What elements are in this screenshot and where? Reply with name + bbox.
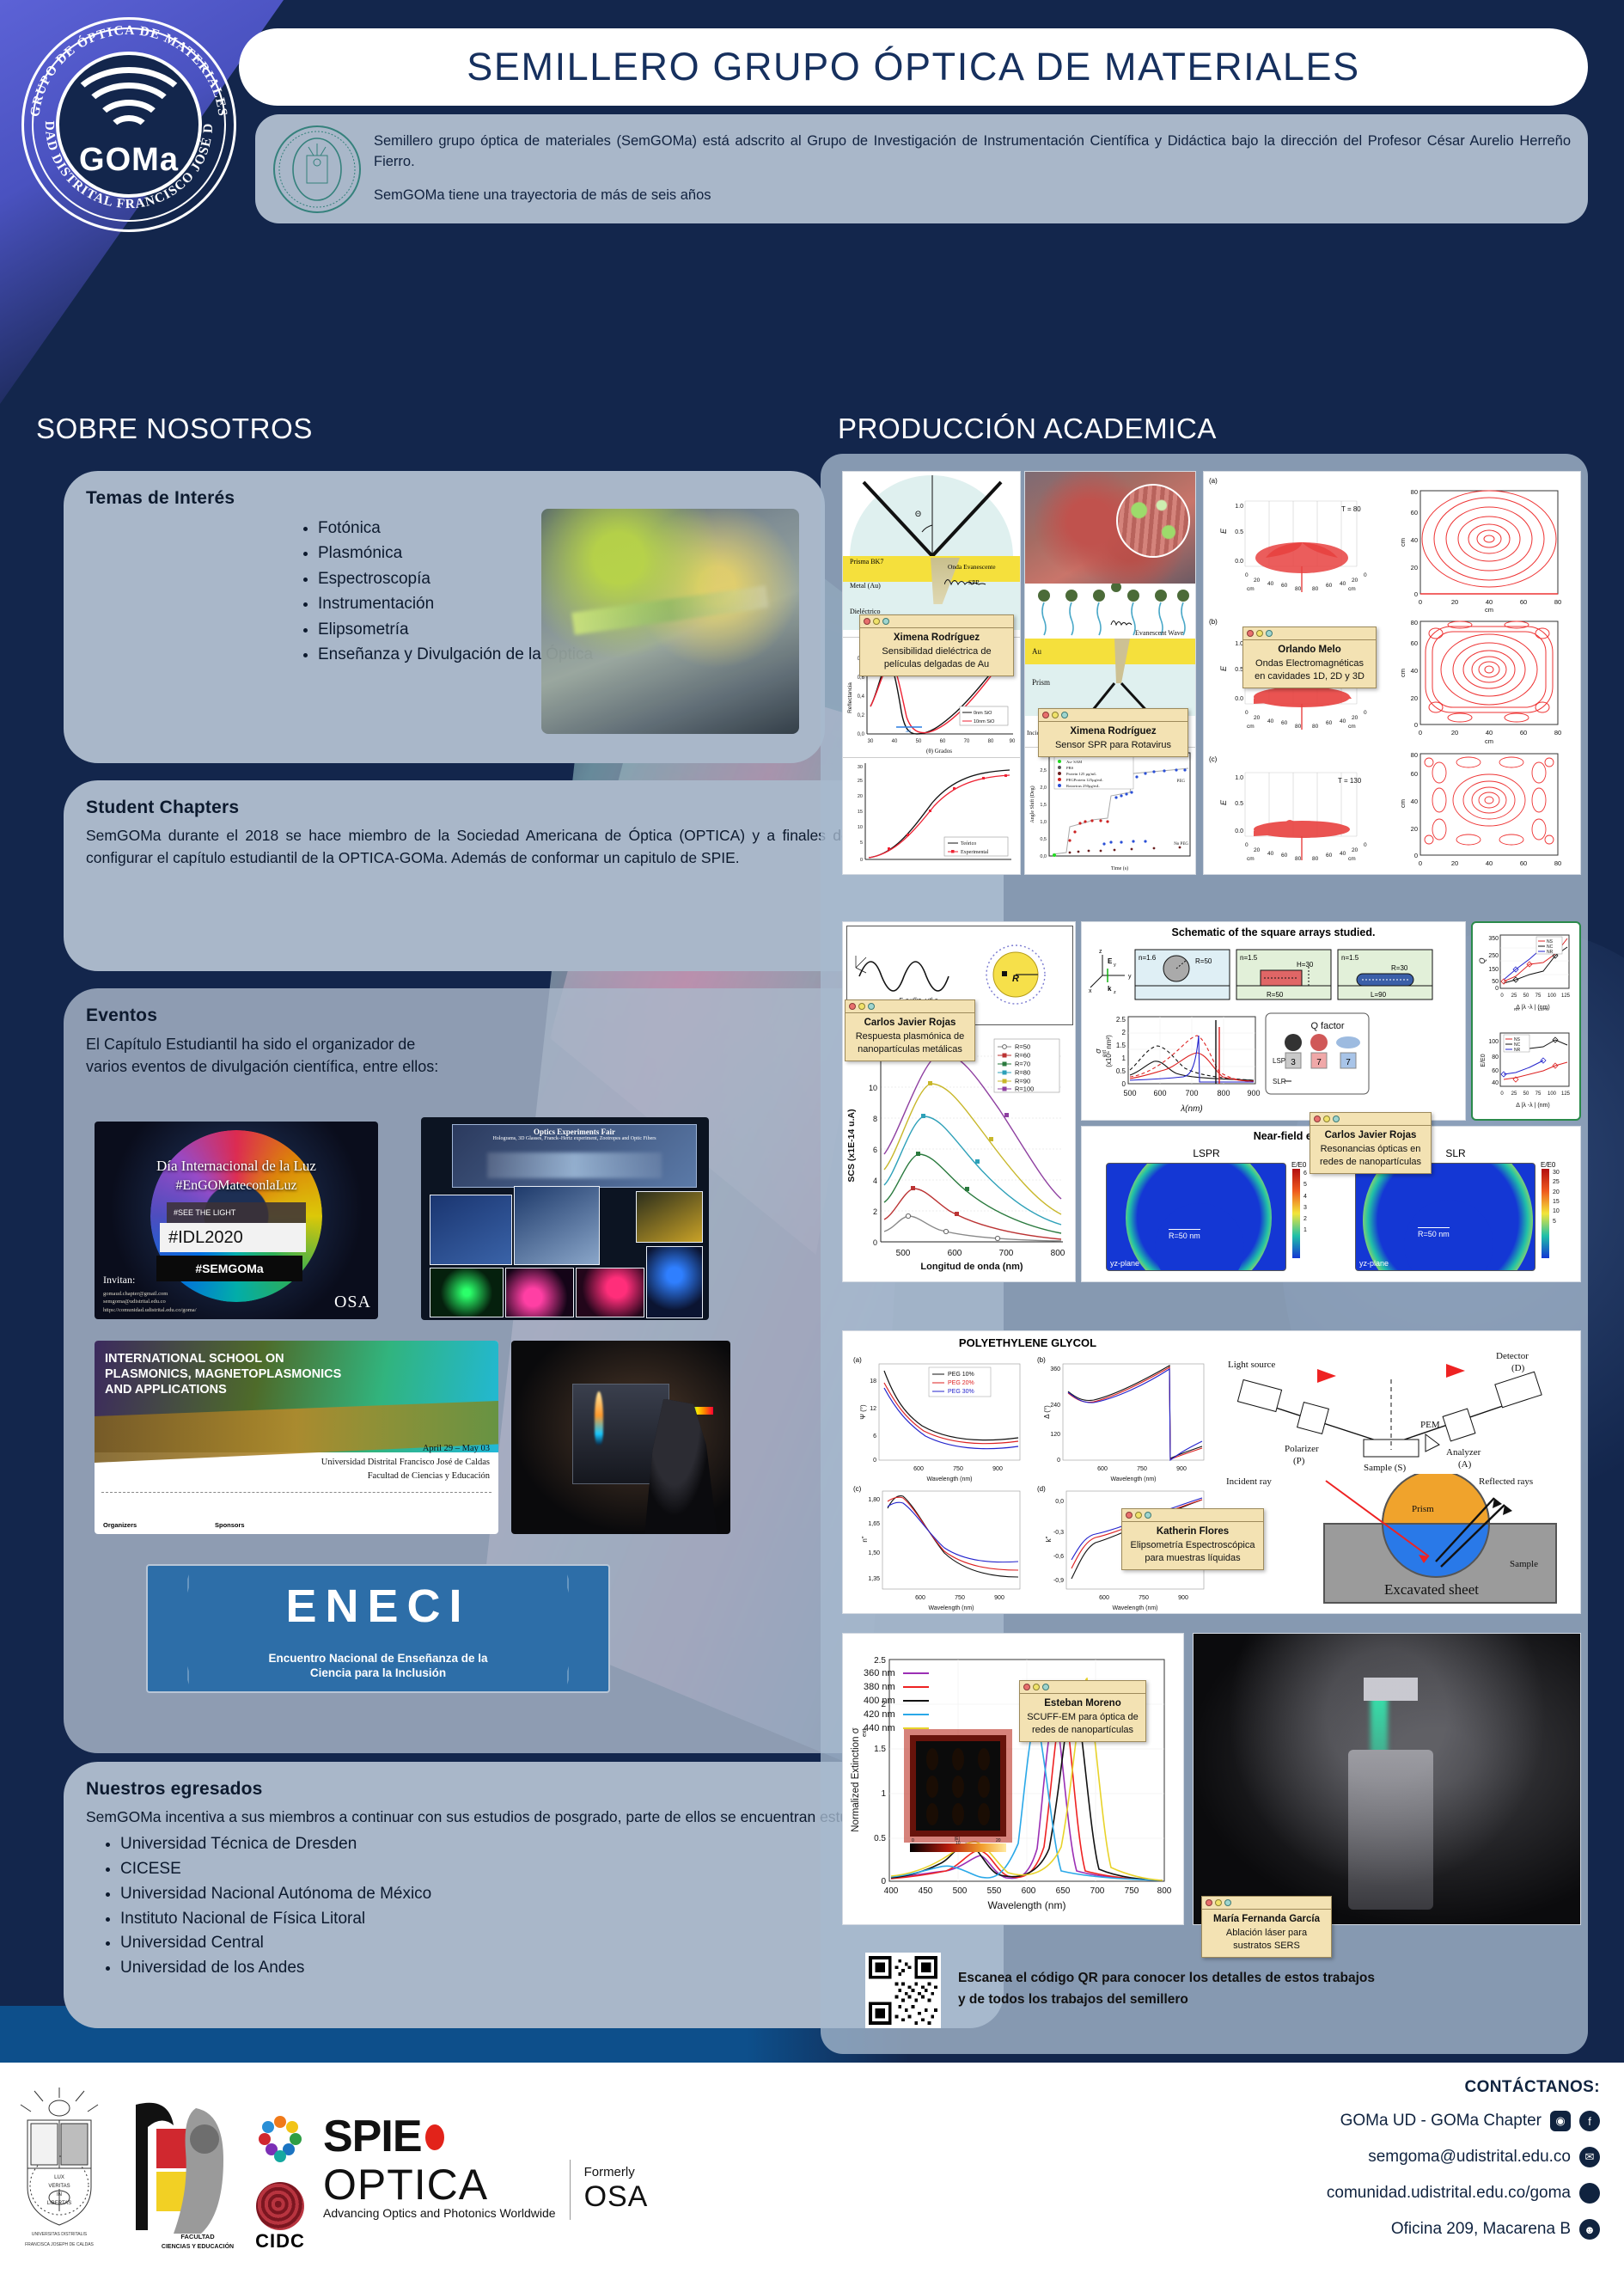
note-body: Esteban Moreno SCUFF-EM para óptica de r… — [1020, 1694, 1145, 1741]
svg-text:1.5: 1.5 — [874, 1745, 886, 1754]
svg-text:0: 0 — [1245, 842, 1249, 848]
svg-text:Excavated sheet: Excavated sheet — [1384, 1581, 1479, 1598]
svg-text:40: 40 — [1340, 718, 1346, 724]
logo-arc-4 — [107, 115, 150, 143]
cidc-label: CIDC — [255, 2230, 305, 2253]
universidad-distrital-shield-logo: LUXVERITAS INLIBERTAS UNIVERSITAS DISTRI… — [9, 2082, 110, 2254]
svg-text:2: 2 — [881, 1700, 886, 1709]
eneci-acronym: ENECI — [148, 1580, 608, 1633]
svg-text:80: 80 — [988, 739, 994, 744]
eneci-subtitle-1: Encuentro Nacional de Enseñanza de la — [148, 1652, 608, 1666]
note-body: Katherin Flores Elipsometría Espectroscó… — [1122, 1522, 1263, 1569]
school-title-line2: PLASMONICS, MAGNETOPLASMONICS — [105, 1366, 341, 1382]
fair-title: Optics Experiments Fair — [453, 1125, 696, 1136]
svg-text:2.5: 2.5 — [874, 1656, 886, 1666]
note-description: Resonancias ópticas en redes de nanopart… — [1316, 1143, 1425, 1169]
lab-photo — [541, 509, 799, 734]
minimize-dot-icon — [873, 618, 880, 625]
svg-text:0: 0 — [1414, 590, 1418, 598]
cidc-logo: CIDC — [254, 2108, 306, 2253]
svg-text:20: 20 — [1352, 847, 1358, 853]
svg-text:20: 20 — [1451, 598, 1458, 606]
svg-text:PEGProtein 125µg/mL: PEGProtein 125µg/mL — [1066, 778, 1103, 782]
svg-text:250: 250 — [1488, 953, 1499, 959]
contact-row-office[interactable]: Oficina 209, Macarena B ☻ — [1327, 2219, 1600, 2240]
svg-text:750: 750 — [1137, 1466, 1147, 1472]
svg-text:Polarizer: Polarizer — [1285, 1444, 1319, 1454]
svg-text:60: 60 — [1520, 729, 1527, 737]
svg-text:50: 50 — [1492, 979, 1499, 985]
note-carlos-rojas-2[interactable]: Carlos Javier Rojas Resonancias ópticas … — [1310, 1112, 1432, 1174]
svg-text:40: 40 — [1486, 598, 1493, 606]
flame-graphic — [595, 1391, 603, 1445]
svg-text:6: 6 — [873, 1433, 876, 1440]
svg-text:R=90: R=90 — [1015, 1078, 1030, 1085]
melo-3d-c: T = 130 1.00.50.0 E 02040 6080 806040 20… — [1219, 759, 1383, 871]
svg-text:Angle Shift (Deg): Angle Shift (Deg) — [1029, 786, 1035, 822]
svg-text:σ: σ — [1094, 1048, 1102, 1054]
school-title-line1: INTERNATIONAL SCHOOL ON — [105, 1351, 341, 1366]
note-author: María Fernanda García — [1208, 1914, 1325, 1924]
svg-text:y: y — [1114, 963, 1116, 968]
peg-title: POLYETHYLENE GLYCOL — [843, 1336, 1212, 1349]
svg-text:0: 0 — [1419, 859, 1422, 867]
svg-text:700: 700 — [999, 1249, 1014, 1258]
note-description: Ablación láser para sustratos SERS — [1208, 1927, 1325, 1953]
figure-q-and-ee0-plots: 050150 250350 02550 75100125 Q Δ |λ -λ |… — [1471, 921, 1581, 1121]
svg-text:FRANCISCA JOSEPH DE CALDAS: FRANCISCA JOSEPH DE CALDAS — [25, 2242, 94, 2247]
note-titlebar — [1039, 709, 1187, 722]
note-body: Orlando Melo Ondas Electromagnéticas en … — [1243, 640, 1376, 688]
cidc-swirl-icon — [256, 2182, 304, 2230]
svg-text:900: 900 — [1176, 1466, 1187, 1472]
note-carlos-rojas-1[interactable]: Carlos Javier Rojas Respuesta plasmónica… — [845, 999, 975, 1061]
note-description: Ondas Electromagnéticas en cavidades 1D,… — [1249, 657, 1370, 683]
idl-invitan-label: Invitan: — [103, 1274, 135, 1287]
svg-text:100: 100 — [1548, 993, 1557, 999]
svg-text:cm: cm — [1348, 586, 1356, 592]
svg-text:0,5: 0,5 — [1040, 837, 1047, 842]
svg-text:z: z — [1114, 990, 1116, 995]
svg-text:20: 20 — [1254, 578, 1261, 584]
svg-text:60: 60 — [1326, 853, 1333, 859]
figure-rotavirus-sensor: Evanescent Wave Au Prism Incident light … — [1024, 471, 1196, 875]
close-dot-icon — [1042, 712, 1049, 718]
nearfield-plane-label-lspr: yz-plane — [1110, 1259, 1139, 1268]
svg-text:E: E — [1108, 957, 1113, 965]
svg-text:40: 40 — [1411, 536, 1418, 544]
svg-text:20: 20 — [858, 794, 863, 799]
school-details: April 29 – May 03 Universidad Distrital … — [321, 1442, 490, 1482]
svg-text:cm: cm — [1247, 586, 1255, 592]
svg-text:50: 50 — [1523, 993, 1529, 999]
qr-instructions: Escanea el código QR para conocer los de… — [958, 1968, 1375, 2011]
svg-text:PEM: PEM — [1420, 1420, 1440, 1430]
svg-text:(D): (D) — [1511, 1363, 1525, 1373]
school-divider — [101, 1492, 491, 1493]
svg-text:cm: cm — [1485, 737, 1493, 745]
svg-text:0: 0 — [1414, 852, 1418, 859]
svg-text:80: 80 — [1492, 1054, 1499, 1061]
note-body: Carlos Javier Rojas Respuesta plasmónica… — [846, 1013, 974, 1061]
svg-text:ext: ext — [862, 1729, 868, 1737]
svg-text:R=70: R=70 — [1015, 1061, 1030, 1068]
svg-text:40: 40 — [1411, 667, 1418, 675]
event-photo-presentation — [511, 1341, 730, 1534]
svg-text:800: 800 — [1217, 1089, 1230, 1097]
svg-text:E: E — [1219, 665, 1228, 671]
melo-3d-a: T = 80 1.00.50.0 E 02040 6080 806040 200… — [1219, 484, 1383, 604]
svg-text:400: 400 — [884, 1886, 899, 1896]
svg-text:750: 750 — [1125, 1886, 1139, 1896]
note-titlebar — [1122, 1509, 1263, 1522]
svg-text:60: 60 — [1281, 583, 1288, 589]
fair-photo-3 — [636, 1191, 703, 1243]
svg-text:cm: cm — [1399, 538, 1407, 547]
svg-text:cm: cm — [1348, 724, 1356, 730]
melo-time-c: T = 130 — [1338, 777, 1362, 785]
svg-text:Prism: Prism — [1032, 678, 1050, 687]
svg-text:E: E — [1219, 528, 1228, 534]
svg-text:60: 60 — [1281, 853, 1288, 859]
svg-text:6: 6 — [873, 1146, 877, 1154]
event-image-optics-experiments-fair: Optics Experiments Fair Holograms, 3D Gl… — [421, 1117, 709, 1320]
svg-text:R=50: R=50 — [1267, 991, 1284, 999]
note-ximena-rodriguez-2[interactable]: Ximena Rodríguez Sensor SPR para Rotavir… — [1038, 708, 1188, 757]
close-dot-icon — [1247, 630, 1254, 637]
svg-text:LUX: LUX — [54, 2175, 64, 2180]
svg-text:100: 100 — [1488, 1039, 1499, 1045]
svg-text:1.0: 1.0 — [1235, 504, 1243, 510]
note-author: Ximena Rodríguez — [866, 633, 1007, 643]
svg-text:380 nm: 380 nm — [864, 1682, 895, 1692]
svg-text:cm: cm — [1348, 856, 1356, 862]
logo-center-text: GOMa — [59, 142, 198, 179]
svg-text:Ψ (°): Ψ (°) — [859, 1404, 867, 1420]
spie-red-dot-icon — [425, 2124, 444, 2150]
svg-text:0.0: 0.0 — [1235, 696, 1243, 702]
svg-text:VERITAS: VERITAS — [48, 2184, 70, 2189]
qr-code[interactable] — [865, 1953, 941, 2028]
melo-panel-b-label: (b) — [1209, 618, 1218, 626]
maximize-dot-icon — [1333, 1116, 1340, 1122]
svg-text:80: 80 — [1411, 751, 1418, 759]
contact-row-social[interactable]: GOMa UD - GOMa Chapter ◉ f — [1327, 2111, 1600, 2131]
cbar-label-slr: E/E0 — [1541, 1161, 1553, 1169]
svg-text:n=1.5: n=1.5 — [1240, 954, 1258, 962]
svg-text:2: 2 — [1122, 1029, 1126, 1036]
svg-text:L=90: L=90 — [1371, 991, 1387, 999]
qr-line-1: Escanea el código QR para conocer los de… — [958, 1968, 1375, 1990]
minimize-dot-icon — [1256, 630, 1263, 637]
svg-text:UNIVERSITAS DISTRITALIS: UNIVERSITAS DISTRITALIS — [32, 2232, 88, 2237]
instrumentacion-seal-icon — [272, 125, 362, 214]
close-dot-icon — [1314, 1116, 1321, 1122]
svg-text:600: 600 — [1153, 1089, 1166, 1097]
note-titlebar — [1310, 1113, 1431, 1126]
melo-panel-a-label: (a) — [1209, 477, 1218, 485]
svg-text:125: 125 — [1561, 1091, 1571, 1097]
event-image-dia-internacional-luz: Día Internacional de la Luz #EnGOMatecon… — [95, 1122, 378, 1319]
svg-text:(b): (b) — [1037, 1356, 1046, 1364]
svg-text:75: 75 — [1535, 1091, 1542, 1097]
svg-text:0.0: 0.0 — [1235, 559, 1243, 565]
note-author: Ximena Rodríguez — [1045, 726, 1181, 737]
school-sponsors-label: Sponsors — [215, 1521, 245, 1529]
osa-logo-text: OSA — [334, 1293, 371, 1312]
minimize-dot-icon — [1323, 1116, 1330, 1122]
svg-text:0,0: 0,0 — [858, 732, 865, 737]
melo-contour-b: 02040 6080 02040 6080 cm cm — [1391, 614, 1575, 745]
poster-root: GRUPO DE ÓPTICA DE MATERIALES UNIVERSIDA… — [0, 0, 1624, 2274]
note-author: Orlando Melo — [1249, 645, 1370, 655]
svg-text:Light source: Light source — [1228, 1360, 1275, 1370]
melo-time-a: T = 80 — [1341, 505, 1361, 513]
svg-text:-0,6: -0,6 — [1053, 1554, 1064, 1560]
note-description: Sensor SPR para Rotavirus — [1045, 739, 1181, 752]
nearfield-map-lspr: yz-plane R=50 nm — [1106, 1163, 1286, 1271]
spie-optica-logo: SPIE OPTICA Advancing Optics and Photoni… — [323, 2117, 648, 2220]
svg-text:R=60: R=60 — [1015, 1052, 1030, 1060]
intro-paragraph-1: Semillero grupo óptica de materiales (Se… — [374, 131, 1571, 173]
minimize-dot-icon — [1135, 1512, 1142, 1519]
svg-text:360: 360 — [1050, 1366, 1060, 1372]
svg-text:1: 1 — [881, 1789, 886, 1799]
school-title: INTERNATIONAL SCHOOL ON PLASMONICS, MAGN… — [105, 1351, 341, 1397]
svg-text:420 nm: 420 nm — [864, 1709, 895, 1720]
melo-contour-c: 02040 6080 02040 6080 cm — [1391, 747, 1575, 872]
note-orlando-melo[interactable]: Orlando Melo Ondas Electromagnéticas en … — [1242, 627, 1377, 688]
svg-text:Analyzer: Analyzer — [1446, 1447, 1481, 1458]
svg-text:2,0: 2,0 — [1040, 786, 1047, 791]
footer-logos: LUXVERITAS INLIBERTAS UNIVERSITAS DISTRI… — [9, 2073, 648, 2264]
svg-text:600: 600 — [913, 1466, 924, 1472]
svg-text:PBS: PBS — [1066, 766, 1074, 770]
svg-text:NR: NR — [1547, 950, 1554, 955]
svg-text:k: k — [1108, 985, 1112, 993]
email-icon[interactable]: ✉ — [1579, 2147, 1600, 2167]
svg-text:0.5: 0.5 — [1235, 801, 1243, 807]
contact-row-email[interactable]: semgoma@udistrital.edu.co ✉ — [1327, 2147, 1600, 2167]
svg-text:NR: NR — [1514, 1048, 1521, 1053]
svg-text:3: 3 — [1291, 1058, 1296, 1067]
svg-text:4: 4 — [873, 1177, 877, 1185]
svg-text:0: 0 — [1122, 1080, 1126, 1088]
facebook-icon[interactable]: f — [1579, 2111, 1600, 2131]
svg-text:Experimental: Experimental — [961, 850, 989, 855]
svg-text:80: 80 — [1554, 859, 1561, 867]
svg-text:0,2: 0,2 — [858, 713, 865, 718]
eneci-subtitle: Encuentro Nacional de Enseñanza de la Ci… — [148, 1652, 608, 1681]
svg-text:350: 350 — [1488, 936, 1499, 942]
svg-text:RA: RA — [1514, 1007, 1519, 1012]
svg-text:10: 10 — [955, 1841, 961, 1846]
note-description: Respuesta plasmónica de nanopartículas m… — [852, 1030, 968, 1056]
svg-text:x: x — [1089, 988, 1092, 994]
svg-text:20: 20 — [1254, 715, 1261, 721]
maximize-dot-icon — [1042, 1684, 1049, 1690]
svg-text:R=80: R=80 — [1015, 1069, 1030, 1077]
svg-text:80: 80 — [1312, 856, 1319, 862]
section-heading-sobre-nosotros: SOBRE NOSOTROS — [36, 413, 313, 445]
svg-text:20: 20 — [996, 1838, 1001, 1843]
svg-text:60: 60 — [1520, 859, 1527, 867]
svg-text:LIBERTAS: LIBERTAS — [47, 2201, 71, 2206]
fair-photo-7 — [646, 1246, 703, 1318]
arrays-title: Schematic of the square arrays studied. — [1082, 926, 1465, 938]
contact-social-text: GOMa UD - GOMa Chapter — [1340, 2112, 1542, 2130]
svg-text:0: 0 — [1419, 729, 1422, 737]
web-icon[interactable] — [1579, 2183, 1600, 2204]
svg-text:60: 60 — [940, 739, 946, 744]
contact-row-web[interactable]: comunidad.udistrital.edu.co/goma — [1327, 2183, 1600, 2204]
svg-text:Prism: Prism — [1412, 1504, 1434, 1514]
svg-text:7: 7 — [1316, 1058, 1322, 1067]
svg-text:40: 40 — [1486, 859, 1493, 867]
virus-zoom-circle — [1116, 484, 1190, 558]
svg-text:Detector: Detector — [1496, 1351, 1529, 1361]
fair-photo-6 — [576, 1268, 644, 1317]
svg-text:Wavelength (nm): Wavelength (nm) — [928, 1605, 974, 1611]
svg-text:Reflectancia: Reflectancia — [847, 682, 853, 713]
svg-text:0: 0 — [1500, 1091, 1504, 1097]
svg-text:360 nm: 360 nm — [864, 1668, 895, 1678]
figure-scuff-em-extinction: 0 |E|10 20 360 nm 380 nm 400 nm 420 nm 4… — [842, 1633, 1184, 1925]
fair-header: Optics Experiments Fair Holograms, 3D Gl… — [452, 1124, 697, 1188]
svg-text:50: 50 — [916, 739, 922, 744]
svg-text:8: 8 — [873, 1115, 877, 1123]
svg-text:2: 2 — [873, 1207, 877, 1216]
eneci-subtitle-2: Ciencia para la Inclusión — [148, 1666, 608, 1681]
svg-text:1,5: 1,5 — [1040, 803, 1047, 808]
close-dot-icon — [1023, 1684, 1030, 1690]
svg-text:Protein 125 µg/mL: Protein 125 µg/mL — [1066, 772, 1096, 776]
intro-paragraph-2: SemGOMa tiene una trayectoria de más de … — [374, 186, 1571, 206]
svg-text:60: 60 — [1411, 770, 1418, 778]
contact-heading: CONTÁCTANOS: — [1327, 2078, 1600, 2097]
svg-text:PEG 10%: PEG 10% — [948, 1372, 974, 1378]
svg-text:450: 450 — [919, 1886, 933, 1896]
svg-text:10: 10 — [858, 825, 863, 830]
note-maria-fernanda-garcia[interactable]: María Fernanda García Ablación láser par… — [1201, 1896, 1332, 1958]
svg-text:600: 600 — [915, 1595, 925, 1601]
svg-text:50: 50 — [1523, 1091, 1529, 1097]
svg-text:H=30: H=30 — [1297, 961, 1314, 969]
maximize-dot-icon — [1061, 712, 1068, 718]
svg-text:80: 80 — [1312, 586, 1319, 592]
svg-text:60: 60 — [1411, 509, 1418, 517]
svg-text:40: 40 — [1492, 1080, 1499, 1086]
svg-text:0: 0 — [1057, 1458, 1060, 1464]
note-katherin-flores[interactable]: Katherin Flores Elipsometría Espectroscó… — [1121, 1508, 1264, 1570]
svg-text:1: 1 — [1122, 1054, 1126, 1062]
svg-text:80: 80 — [1411, 488, 1418, 496]
svg-text:40: 40 — [1486, 729, 1493, 737]
svg-text:Rotavirus 250µg/mL: Rotavirus 250µg/mL — [1066, 784, 1100, 788]
svg-text:20: 20 — [1411, 564, 1418, 572]
svg-text:R=30: R=30 — [1391, 964, 1408, 972]
svg-text:70: 70 — [964, 739, 970, 744]
svg-text:λ(nm): λ(nm) — [1180, 1104, 1202, 1114]
goma-logo: GRUPO DE ÓPTICA DE MATERIALES UNIVERSIDA… — [21, 17, 236, 232]
school-title-line3: AND APPLICATIONS — [105, 1382, 341, 1397]
svg-text:1.0: 1.0 — [1235, 775, 1243, 781]
fair-photo-4 — [430, 1268, 504, 1317]
svg-text:0.5: 0.5 — [1235, 529, 1243, 535]
svg-text:Evanescent Wave: Evanescent Wave — [1135, 629, 1184, 637]
spie-tagline: Advancing Optics and Photonics Worldwide — [323, 2206, 556, 2220]
svg-text:0nm SiO: 0nm SiO — [974, 711, 992, 716]
svg-text:Teórico: Teórico — [961, 841, 976, 847]
svg-text:0: 0 — [860, 858, 863, 863]
svg-text:20: 20 — [1352, 578, 1358, 584]
note-body: María Fernanda García Ablación láser par… — [1202, 1910, 1331, 1957]
note-titlebar — [860, 615, 1013, 628]
note-description: Sensibilidad dieléctrica de películas de… — [866, 645, 1007, 671]
melo-panel-c-label: (c) — [1209, 755, 1217, 763]
contact-office-text: Oficina 209, Macarena B — [1391, 2220, 1571, 2239]
svg-text:750: 750 — [1139, 1595, 1149, 1601]
svg-text:0,6: 0,6 — [858, 675, 865, 681]
svg-text:Au- SAM: Au- SAM — [1066, 760, 1082, 764]
note-ximena-rodriguez-1[interactable]: Ximena Rodríguez Sensibilidad dieléctric… — [859, 614, 1014, 676]
svg-text:900: 900 — [1247, 1089, 1260, 1097]
svg-text:25: 25 — [858, 779, 863, 784]
idl-tag-semgoma: #SEMGOMa — [156, 1256, 302, 1281]
svg-text:500: 500 — [896, 1249, 911, 1258]
card-temas-de-interes: Temas de Interés Fotónica Plasmónica Esp… — [64, 471, 825, 763]
intro-text: Semillero grupo óptica de materiales (Se… — [374, 131, 1571, 207]
svg-text:LSPR: LSPR — [1538, 1007, 1549, 1012]
svg-text:(x10⁵ nm²): (x10⁵ nm²) — [1105, 1035, 1113, 1067]
svg-text:Q: Q — [1478, 957, 1487, 963]
maximize-dot-icon — [1266, 630, 1273, 637]
note-body: Carlos Javier Rojas Resonancias ópticas … — [1310, 1126, 1431, 1173]
svg-text:10: 10 — [869, 1084, 877, 1092]
svg-text:Δ (°): Δ (°) — [1043, 1405, 1051, 1419]
svg-text:800: 800 — [1051, 1249, 1065, 1258]
instagram-icon[interactable]: ◉ — [1550, 2111, 1571, 2131]
svg-text:20: 20 — [1254, 847, 1261, 853]
svg-text:750: 750 — [953, 1466, 963, 1472]
note-esteban-moreno[interactable]: Esteban Moreno SCUFF-EM para óptica de r… — [1019, 1680, 1146, 1742]
nearfield-panel-lspr-label: LSPR — [1090, 1147, 1322, 1159]
note-author: Carlos Javier Rojas — [852, 1018, 968, 1028]
svg-text:Wavelength (nm): Wavelength (nm) — [926, 1476, 972, 1482]
svg-text:0: 0 — [1364, 842, 1367, 848]
close-dot-icon — [1126, 1512, 1133, 1519]
svg-text:Incident ray: Incident ray — [1226, 1476, 1272, 1487]
qr-line-2: y de todos los trabajos del semillero — [958, 1990, 1375, 2011]
svg-text:R=50: R=50 — [1015, 1043, 1030, 1051]
svg-text:n=1.6: n=1.6 — [1139, 954, 1157, 962]
svg-text:700: 700 — [1090, 1886, 1105, 1896]
svg-text:0: 0 — [1245, 710, 1249, 716]
svg-text:7: 7 — [1346, 1058, 1351, 1067]
svg-text:60: 60 — [1492, 1068, 1499, 1074]
svg-text:20: 20 — [1411, 825, 1418, 833]
svg-text:0: 0 — [1495, 986, 1499, 992]
svg-text:10nm SiO: 10nm SiO — [974, 719, 995, 724]
svg-text:550: 550 — [987, 1886, 1002, 1896]
location-person-icon[interactable]: ☻ — [1579, 2219, 1600, 2240]
svg-text:0: 0 — [1364, 710, 1367, 716]
svg-text:90: 90 — [1010, 739, 1016, 744]
svg-text:0.5: 0.5 — [874, 1834, 886, 1843]
idl-contacts: gomaud.chapter@gmail.com semgoma@udistri… — [103, 1290, 197, 1314]
spie-wordmark: SPIE — [323, 2117, 422, 2158]
svg-text:40: 40 — [1340, 851, 1346, 857]
